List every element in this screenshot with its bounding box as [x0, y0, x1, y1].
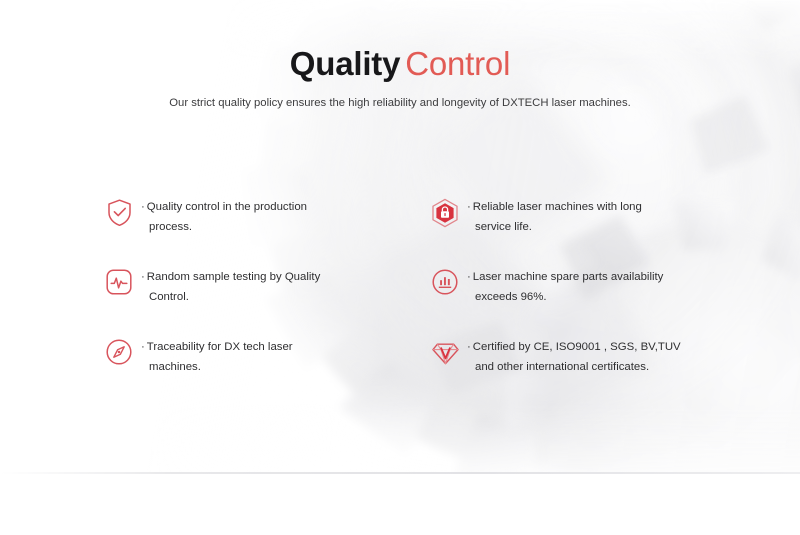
page-title-strong: Quality: [290, 45, 400, 82]
feature-line2: Control.: [141, 287, 320, 307]
feature-text: ·Reliable laser machines with long servi…: [460, 196, 642, 237]
feature-bullet: ·: [467, 201, 471, 213]
shield-check-icon: [104, 196, 134, 228]
feature-item-traceability: ·Traceability for DX tech laser machines…: [104, 336, 430, 406]
bottom-divider: [0, 472, 800, 474]
bar-chart-circle-icon: [430, 266, 460, 298]
diamond-check-icon: [430, 336, 460, 368]
page-title-accent: Control: [405, 45, 510, 82]
feature-line1: Certified by CE, ISO9001 , SGS, BV,TUV: [473, 341, 681, 353]
feature-line2: machines.: [141, 357, 293, 377]
feature-text: ·Traceability for DX tech laser machines…: [134, 336, 293, 377]
feature-item-spare-parts-availability: ·Laser machine spare parts availability …: [430, 266, 724, 336]
lock-hexagon-icon: [430, 196, 460, 228]
feature-bullet: ·: [141, 201, 145, 213]
feature-text: ·Random sample testing by Quality Contro…: [134, 266, 320, 307]
compass-gauge-icon: [104, 336, 134, 368]
quality-control-banner: QualityControl Our strict quality policy…: [0, 0, 800, 474]
pulse-waveform-icon: [104, 266, 134, 298]
feature-item-quality-control: ·Quality control in the production proce…: [104, 196, 430, 266]
feature-bullet: ·: [141, 341, 145, 353]
feature-bullet: ·: [467, 271, 471, 283]
page-whitespace: [0, 474, 800, 535]
feature-line1: Reliable laser machines with long: [473, 201, 642, 213]
feature-bullet: ·: [141, 271, 145, 283]
feature-grid: ·Quality control in the production proce…: [104, 196, 724, 406]
feature-line2: process.: [141, 217, 307, 237]
feature-item-certifications: ·Certified by CE, ISO9001 , SGS, BV,TUV …: [430, 336, 724, 406]
banner-header: QualityControl Our strict quality policy…: [0, 44, 800, 111]
feature-text: ·Quality control in the production proce…: [134, 196, 307, 237]
feature-line1: Laser machine spare parts availability: [473, 271, 664, 283]
page-title: QualityControl: [0, 44, 800, 84]
feature-line1: Random sample testing by Quality: [147, 271, 320, 283]
feature-bullet: ·: [467, 341, 471, 353]
feature-text: ·Certified by CE, ISO9001 , SGS, BV,TUV …: [460, 336, 681, 377]
background-bottom-fade: [0, 404, 800, 474]
page-subtitle: Our strict quality policy ensures the hi…: [0, 95, 800, 111]
feature-line2: service life.: [467, 217, 642, 237]
feature-line1: Quality control in the production: [147, 201, 307, 213]
feature-item-random-sample-testing: ·Random sample testing by Quality Contro…: [104, 266, 430, 336]
feature-line2: exceeds 96%.: [467, 287, 663, 307]
feature-text: ·Laser machine spare parts availability …: [460, 266, 663, 307]
feature-line2: and other international certificates.: [467, 357, 681, 377]
feature-item-reliable-machines: ·Reliable laser machines with long servi…: [430, 196, 724, 266]
feature-line1: Traceability for DX tech laser: [147, 341, 293, 353]
